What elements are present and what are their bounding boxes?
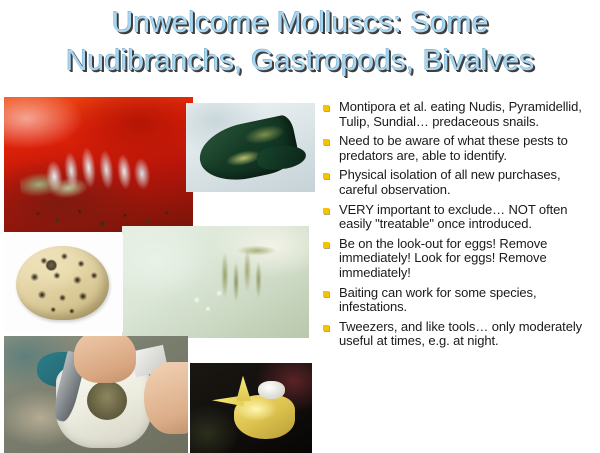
shell-spots (16, 246, 109, 320)
photo-nudibranch-red-sponge (4, 97, 193, 232)
bullet-list: Montipora et al. eating Nudis, Pyramidel… (320, 100, 598, 354)
bullet-text: Need to be aware of what these pests to … (339, 134, 598, 163)
bullet-text: Tweezers, and like tools… only moderatel… (339, 320, 598, 349)
photo-yellow-nudibranch (190, 363, 312, 453)
square-bullet-icon (323, 208, 329, 214)
list-item: Tweezers, and like tools… only moderatel… (320, 320, 598, 349)
list-item: Need to be aware of what these pests to … (320, 134, 598, 163)
list-item: VERY important to exclude… NOT often eas… (320, 203, 598, 232)
hand-upper (74, 336, 137, 383)
egg-strands (122, 226, 309, 338)
bullet-text: Baiting can work for some species, infes… (339, 286, 598, 315)
list-item: Physical isolation of all new purchases,… (320, 168, 598, 197)
slide-title: Unwelcome Molluscs: Some Nudibranchs, Ga… (0, 4, 600, 80)
square-bullet-icon (323, 139, 329, 145)
hand-lower (144, 362, 188, 435)
photo-egg-mass (122, 226, 309, 338)
square-bullet-icon (323, 242, 329, 248)
list-item: Montipora et al. eating Nudis, Pyramidel… (320, 100, 598, 129)
slide-title-line-1: Unwelcome Molluscs: Some (0, 4, 600, 42)
bullet-text: VERY important to exclude… NOT often eas… (339, 203, 598, 232)
square-bullet-icon (323, 173, 329, 179)
photo-spotted-shell (4, 234, 123, 332)
cup-contents (87, 381, 127, 420)
square-bullet-icon (323, 105, 329, 111)
bullet-text: Be on the look-out for eggs! Remove imme… (339, 237, 598, 281)
bullet-text: Physical isolation of all new purchases,… (339, 168, 598, 197)
list-item: Baiting can work for some species, infes… (320, 286, 598, 315)
square-bullet-icon (323, 325, 329, 331)
reef-white-patch (258, 381, 285, 399)
yellow-nudibranch-rhinophore (236, 376, 251, 401)
slide-title-line-2: Nudibranchs, Gastropods, Bivalves (0, 42, 600, 80)
bullet-text: Montipora et al. eating Nudis, Pyramidel… (339, 100, 598, 129)
square-bullet-icon (323, 291, 329, 297)
photo-hands-cup (4, 336, 188, 453)
shell-body (16, 246, 109, 320)
presentation-slide: Unwelcome Molluscs: Some Nudibranchs, Ga… (0, 0, 600, 453)
photo-green-snail (186, 103, 315, 192)
list-item: Be on the look-out for eggs! Remove imme… (320, 237, 598, 281)
photo-detail-cerata (4, 97, 193, 232)
